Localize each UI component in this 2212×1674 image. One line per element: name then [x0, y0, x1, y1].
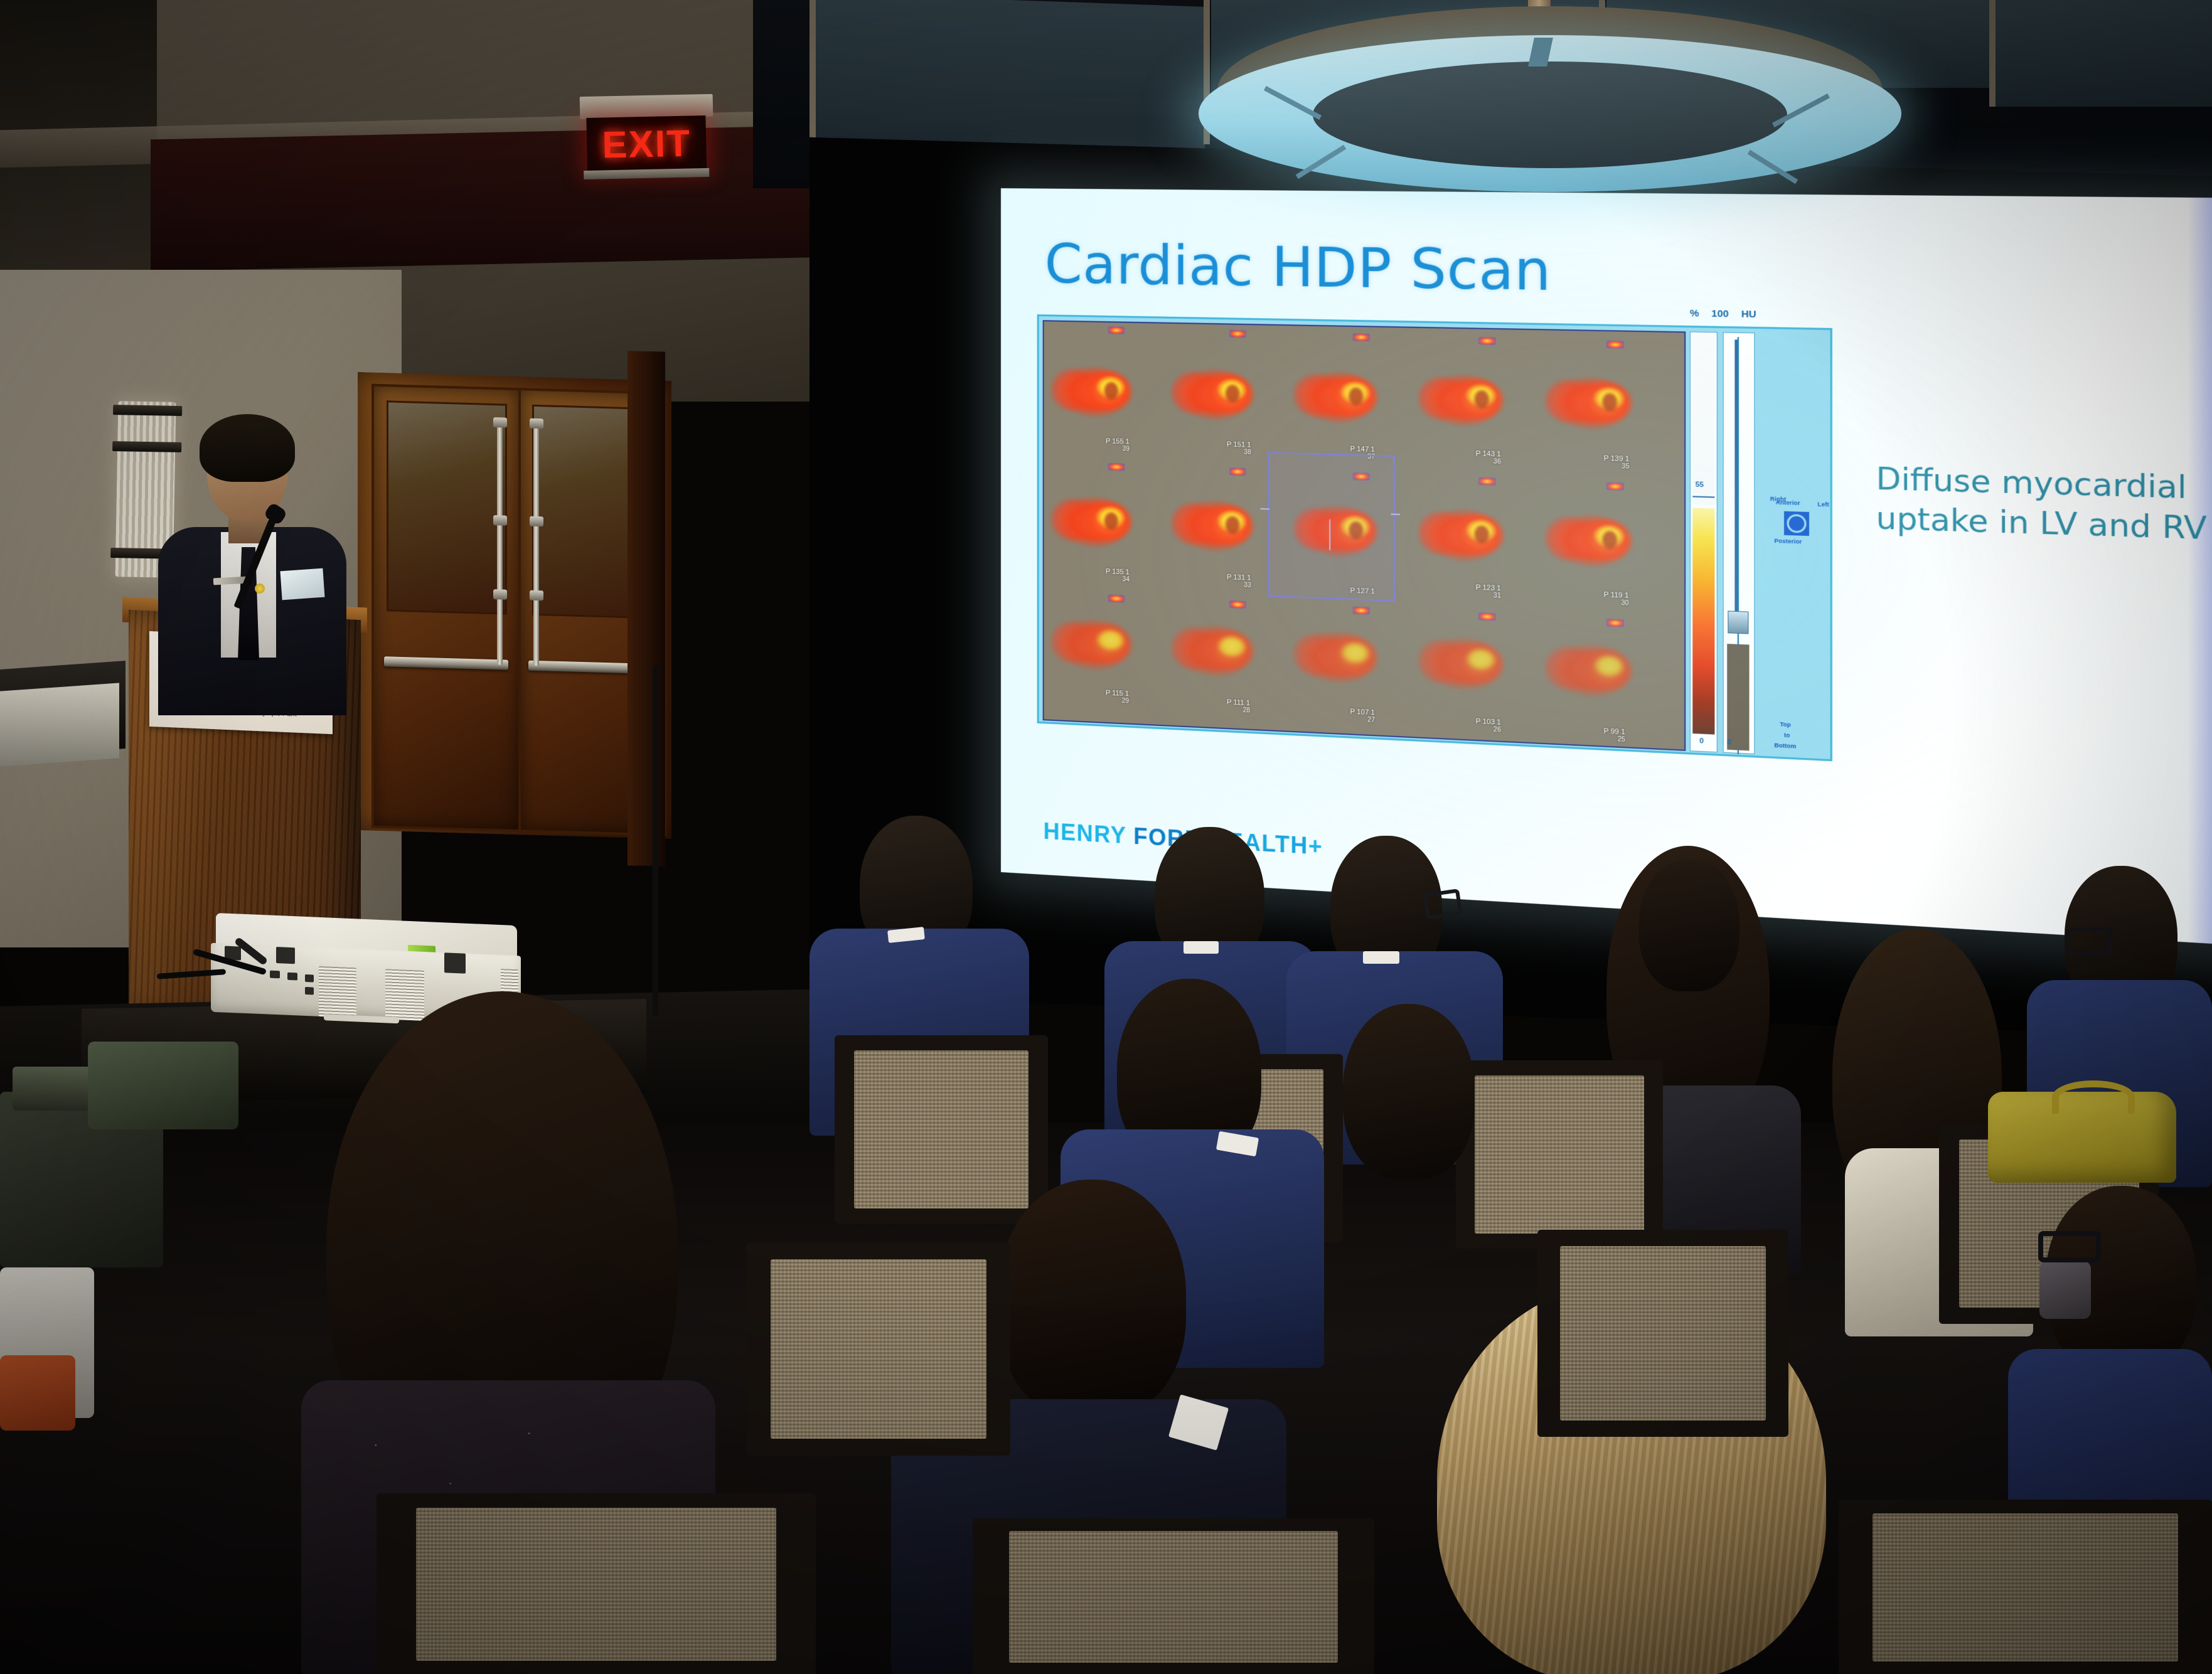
scan-slice — [1170, 488, 1267, 567]
slice-label-text: P 99 1 — [1604, 727, 1625, 736]
audience-head — [998, 1180, 1186, 1418]
scan-crosshair-marker — [1606, 341, 1624, 349]
slice-label-sub: 30 — [1604, 599, 1629, 607]
panic-bar-left[interactable] — [384, 656, 508, 670]
hu-slider-track — [1734, 339, 1737, 611]
exit-sign-label: EXIT — [602, 125, 692, 164]
scan-slice-label: P 135 1 34 — [1106, 568, 1130, 584]
scan-crosshair-marker — [1478, 477, 1496, 486]
scan-slice-label: P 131 1 33 — [1227, 573, 1251, 589]
scan-slice — [1293, 359, 1391, 439]
panic-rod-left — [497, 420, 503, 664]
slice-label-sub: 25 — [1604, 735, 1625, 744]
projector-vent — [319, 966, 356, 1018]
scan-slice — [1544, 364, 1646, 445]
colorbar-max-value: 100 — [1711, 308, 1729, 319]
orientation-range-bottom-label: Bottom — [1774, 742, 1796, 749]
exit-sign-face: EXIT — [586, 115, 707, 173]
hu-window-slider-column[interactable] — [1723, 332, 1755, 754]
door-side-trim — [628, 351, 665, 866]
orientation-panel: Anterior Posterior Right Left Top to Bot… — [1760, 333, 1830, 757]
screen-edge-soft-gradient — [2188, 198, 2212, 945]
scan-slice — [1293, 618, 1391, 700]
slice-label-text: P 123 1 — [1476, 584, 1501, 592]
scan-image-grid: P 155 1 39 P 151 1 38 P 147 1 37 P 143 1… — [1043, 320, 1686, 751]
scan-slice — [1050, 484, 1145, 563]
scan-crosshair-marker — [1478, 337, 1496, 345]
sconce-band — [113, 405, 182, 416]
door-window-left — [387, 400, 507, 614]
panic-rod-clip — [493, 515, 507, 526]
scan-crosshair-marker — [1108, 326, 1125, 334]
scan-crosshair-marker — [1108, 463, 1125, 471]
audience-eyeglasses — [2038, 1231, 2101, 1262]
hu-slider-handle[interactable] — [1728, 610, 1748, 634]
logo-plus-mark-icon: + — [1308, 833, 1323, 860]
slice-label-sub: 38 — [1227, 449, 1251, 456]
roi-tick — [1391, 513, 1400, 515]
slice-label-text: P 115 1 — [1106, 690, 1129, 698]
scan-slice — [1050, 606, 1145, 686]
scan-slice-label: P 151 1 38 — [1227, 440, 1251, 456]
scan-slice — [1418, 624, 1517, 706]
panic-rod-clip — [530, 418, 543, 429]
scan-viewer-window: % 100 HU P 155 1 39 P 15 — [1037, 314, 1832, 761]
colorbar-blank-top — [1692, 334, 1714, 505]
scan-slice — [1050, 355, 1145, 432]
slice-label-text: P 139 1 — [1604, 455, 1630, 464]
colorbar-percent-unit: % — [1690, 308, 1699, 319]
chair — [1839, 1500, 2212, 1674]
hu-slider-lower-range — [1727, 644, 1749, 750]
speaker-button-accent — [255, 584, 265, 594]
slice-label-sub: 27 — [1350, 716, 1375, 724]
projector-input-port[interactable] — [305, 974, 314, 983]
slice-label-text: P 111 1 — [1227, 698, 1250, 707]
slice-label-sub: 26 — [1476, 725, 1501, 733]
slice-label-text: P 143 1 — [1476, 450, 1501, 459]
panic-rod-right — [533, 421, 539, 666]
scan-slice-label: P 107 1 27 — [1350, 708, 1375, 723]
colorbar-hu-unit: HU — [1741, 309, 1756, 320]
slice-label-text: P 147 1 — [1350, 445, 1375, 454]
scan-crosshair-marker — [1606, 619, 1624, 627]
slice-label-text: P 107 1 — [1350, 708, 1375, 717]
panic-rod-clip — [493, 589, 507, 600]
slice-label-sub: 36 — [1476, 457, 1501, 466]
projector-vent-notch — [276, 947, 295, 964]
orientation-left-label: Left — [1817, 501, 1824, 508]
scan-slice-label: P 143 1 36 — [1476, 450, 1501, 466]
roi-tick — [1260, 508, 1269, 509]
slice-label-text: P 103 1 — [1476, 718, 1501, 727]
audience-head — [1639, 860, 1739, 991]
chair — [973, 1518, 1374, 1674]
scan-slice-label: P 99 1 25 — [1604, 727, 1625, 744]
speaker-name-badge — [280, 568, 324, 600]
projector-vent-notch — [444, 952, 466, 973]
audience-shirt-collar — [1183, 941, 1219, 954]
chair — [1537, 1230, 1788, 1437]
slide-title: Cardiac HDP Scan — [1045, 233, 1551, 304]
scan-slice — [1170, 612, 1267, 693]
scan-slice-label: P 103 1 26 — [1476, 718, 1501, 734]
olive-coat-strap — [2052, 1080, 2135, 1114]
speaker-hair — [200, 414, 295, 482]
scan-crosshair-marker — [1353, 333, 1370, 341]
ceiling-grid-line — [1989, 0, 1996, 107]
scan-slice-label: P 111 1 28 — [1227, 698, 1250, 714]
mic-stand-pole — [653, 665, 658, 1016]
double-doors-frame — [358, 372, 671, 839]
panic-rod-clip — [530, 590, 543, 601]
projector-input-port[interactable] — [287, 973, 297, 981]
slice-label-sub: 35 — [1604, 462, 1630, 471]
audience-shirt-collar — [1363, 951, 1399, 964]
slide-annotation: Diffuse myocardial uptake in LV and RV — [1876, 459, 2212, 551]
slice-label-sub: 39 — [1106, 445, 1130, 452]
scan-slice — [1170, 356, 1267, 435]
orange-object-left — [0, 1355, 75, 1431]
ceiling-panel — [816, 0, 1205, 151]
slice-label-sub: 33 — [1227, 581, 1251, 589]
scan-slice — [1544, 631, 1646, 713]
slice-label-text: P 151 1 — [1227, 440, 1251, 449]
orientation-compass-icon — [1784, 511, 1809, 536]
chair — [747, 1242, 1010, 1456]
scan-crosshair-marker — [1229, 467, 1246, 476]
sconce-band — [112, 441, 181, 452]
orientation-range-mid-label: to — [1784, 732, 1790, 738]
conference-room-photo: EXIT E EMBA — [0, 0, 2212, 1674]
ring-light-inner-opening — [1313, 61, 1787, 168]
colorbar-min-label: 0 — [1699, 737, 1704, 745]
projector-vent — [385, 969, 424, 1021]
scan-crosshair-marker — [1108, 594, 1125, 602]
scan-crosshair-marker — [1478, 612, 1496, 621]
roi-tick — [1329, 520, 1330, 550]
orientation-posterior-label: Posterior — [1774, 538, 1802, 545]
scan-crosshair-marker — [1606, 482, 1624, 491]
scan-crosshair-marker — [1229, 330, 1246, 338]
slice-label-sub: 29 — [1106, 697, 1129, 705]
region-of-interest-box[interactable] — [1268, 452, 1395, 602]
slice-label-text: P 155 1 — [1106, 437, 1130, 445]
scan-slice-label: P 115 1 29 — [1106, 690, 1129, 705]
orientation-range-top-label: Top — [1780, 721, 1791, 728]
colorbar-gradient — [1692, 508, 1714, 734]
slice-label-sub: 34 — [1106, 575, 1130, 583]
ceiling-panel — [1996, 0, 2212, 107]
slice-label-sub: 31 — [1476, 592, 1501, 600]
face-mask — [2039, 1261, 2091, 1319]
scan-crosshair-marker — [1229, 600, 1246, 609]
ceiling-ring-light — [1180, 0, 1920, 188]
hu-min-label: 0 — [1727, 738, 1731, 747]
chair — [1456, 1060, 1663, 1249]
audience-head — [1343, 1004, 1475, 1180]
colorbar-mid-label: 55 — [1696, 481, 1704, 489]
chair — [377, 1493, 816, 1674]
colorbar-column — [1690, 331, 1718, 752]
logo-word-henry: HENRY — [1044, 818, 1126, 849]
projector-input-port[interactable] — [305, 987, 314, 995]
projector-input-port[interactable] — [270, 971, 280, 979]
audience-eyeglasses — [2066, 927, 2112, 956]
scan-slice — [1418, 496, 1517, 577]
slice-label-text: P 131 1 — [1227, 573, 1251, 582]
scan-slice-label: P 123 1 31 — [1476, 584, 1501, 599]
slice-label-sub: 28 — [1227, 706, 1250, 715]
scan-slice-label: P 119 1 30 — [1604, 591, 1629, 607]
scan-slice-label: P 139 1 35 — [1604, 455, 1630, 471]
scan-slice — [1418, 361, 1517, 442]
orientation-right-label: Right — [1770, 496, 1777, 503]
slice-label-text: P 135 1 — [1106, 568, 1130, 576]
slice-label-text: P 119 1 — [1604, 591, 1629, 600]
ceiling-grid-line — [809, 0, 816, 151]
colorbar-top-labels: % 100 HU — [1690, 308, 1756, 321]
white-equipment-case — [0, 683, 119, 766]
scan-slice-label: P 155 1 39 — [1106, 437, 1130, 452]
green-chair-left — [88, 1042, 238, 1129]
door-left[interactable] — [371, 384, 521, 833]
exit-sign: EXIT — [567, 93, 726, 178]
scan-slice — [1544, 501, 1646, 584]
panic-rod-clip — [493, 417, 507, 428]
chair — [835, 1035, 1048, 1224]
audience-eyeglasses — [1423, 888, 1462, 920]
scan-crosshair-marker — [1353, 606, 1370, 614]
panic-rod-clip — [530, 516, 543, 527]
